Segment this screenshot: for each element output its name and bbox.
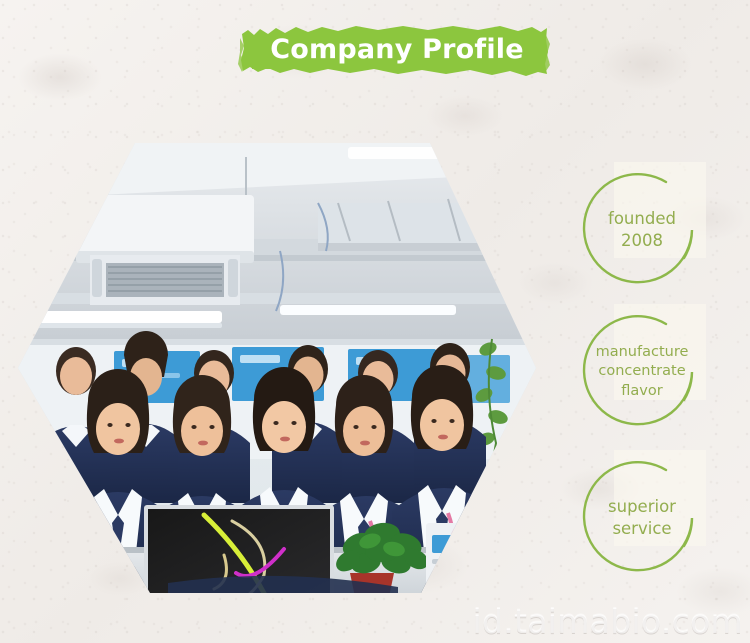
title-banner: Company Profile [238,22,550,80]
badge-founded: founded 2008 [580,168,704,292]
company-profile-banner: Company Profile [0,0,750,643]
badge-founded-label: founded 2008 [580,168,704,292]
badge-service-label: superior service [580,456,704,580]
page-title: Company Profile [238,22,550,80]
site-watermark: id.taimabio.com [368,601,743,641]
badge-service: superior service [580,456,704,580]
badge-manufacture-label: manufacture concentrate flavor [580,310,704,434]
badge-manufacture: manufacture concentrate flavor [580,310,704,434]
